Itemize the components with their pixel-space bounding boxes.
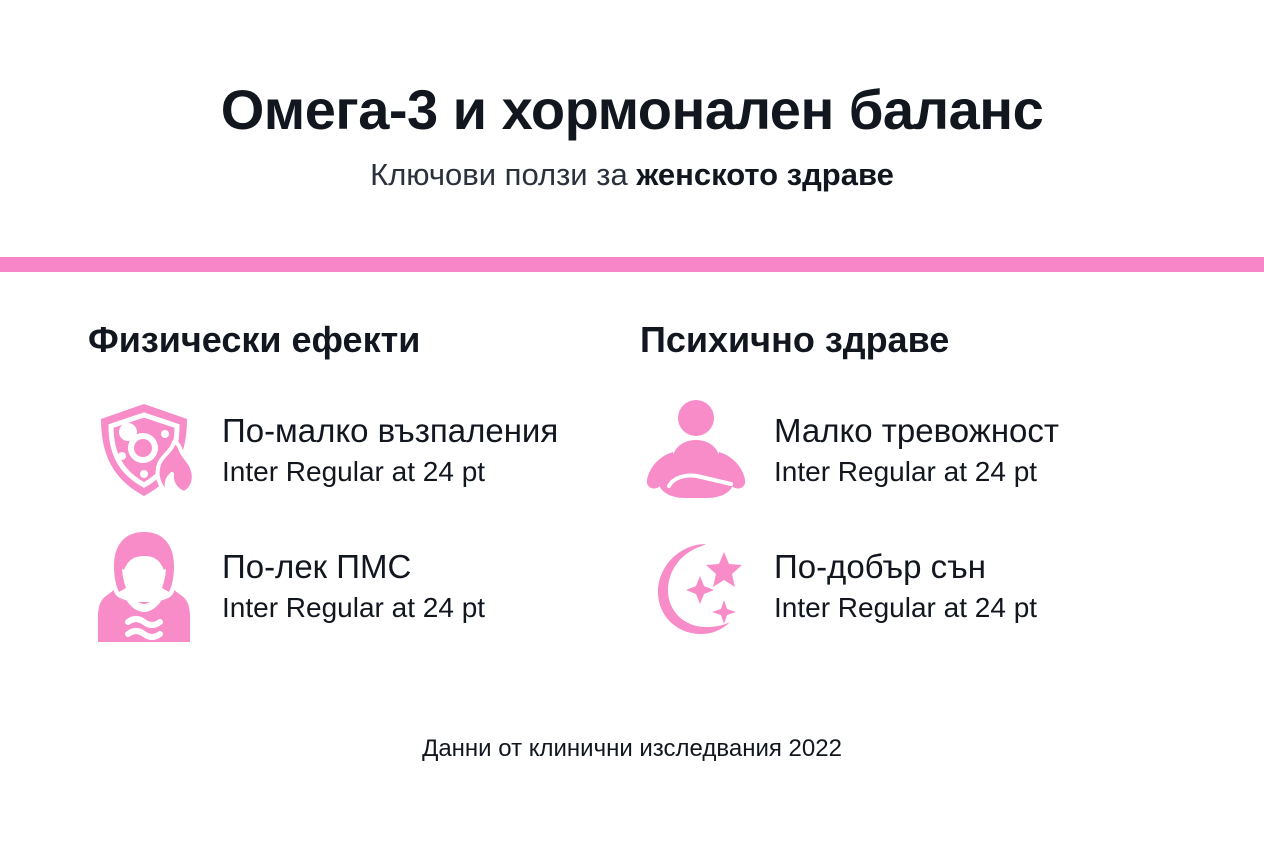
benefit-item-less-anxiety: Малко тревожност Inter Regular at 24 pt: [640, 394, 1264, 506]
column-heading-mental: Психично здраве: [640, 318, 1264, 362]
benefit-subtitle: Inter Regular at 24 pt: [222, 454, 558, 490]
benefit-item-milder-pms: По-лек ПМС Inter Regular at 24 pt: [88, 530, 610, 642]
woman-abdomen-icon: [88, 530, 200, 642]
column-physical-effects: Физически ефекти: [0, 318, 610, 666]
benefit-title: По-добър сън: [774, 546, 1037, 588]
benefit-title: Малко тревожност: [774, 410, 1059, 452]
benefit-item-better-sleep: По-добър сън Inter Regular at 24 pt: [640, 530, 1264, 642]
subtitle-bold-part: женското здраве: [636, 157, 894, 192]
column-mental-health: Психично здраве: [610, 318, 1264, 666]
header: Омега-3 и хормонален баланс Ключови полз…: [0, 0, 1264, 194]
page-subtitle: Ключови ползи за женското здраве: [0, 156, 1264, 194]
crescent-moon-stars-icon: [640, 530, 752, 642]
benefit-text-block: По-добър сън Inter Regular at 24 pt: [752, 546, 1037, 626]
pink-divider-bar: [0, 257, 1264, 272]
benefit-title: По-малко възпаления: [222, 410, 558, 452]
benefit-text-block: По-лек ПМС Inter Regular at 24 pt: [200, 546, 485, 626]
benefit-text-block: По-малко възпаления Inter Regular at 24 …: [200, 410, 558, 490]
benefit-title: По-лек ПМС: [222, 546, 485, 588]
page-title: Омега-3 и хормонален баланс: [0, 78, 1264, 142]
meditating-person-icon: [640, 394, 752, 506]
benefits-columns: Физически ефекти: [0, 318, 1264, 666]
footer-source-note: Данни от клинични изследвания 2022: [0, 733, 1264, 765]
subtitle-regular-part: Ключови ползи за: [370, 157, 636, 192]
benefit-subtitle: Inter Regular at 24 pt: [774, 454, 1059, 490]
column-heading-physical: Физически ефекти: [88, 318, 610, 362]
benefit-text-block: Малко тревожност Inter Regular at 24 pt: [752, 410, 1059, 490]
benefit-subtitle: Inter Regular at 24 pt: [774, 590, 1037, 626]
benefit-subtitle: Inter Regular at 24 pt: [222, 590, 485, 626]
benefit-item-less-inflammation: По-малко възпаления Inter Regular at 24 …: [88, 394, 610, 506]
footer: Данни от клинични изследвания 2022: [0, 733, 1264, 765]
shield-flame-icon: [88, 394, 200, 506]
infographic-poster: Омега-3 и хормонален баланс Ключови полз…: [0, 0, 1264, 848]
